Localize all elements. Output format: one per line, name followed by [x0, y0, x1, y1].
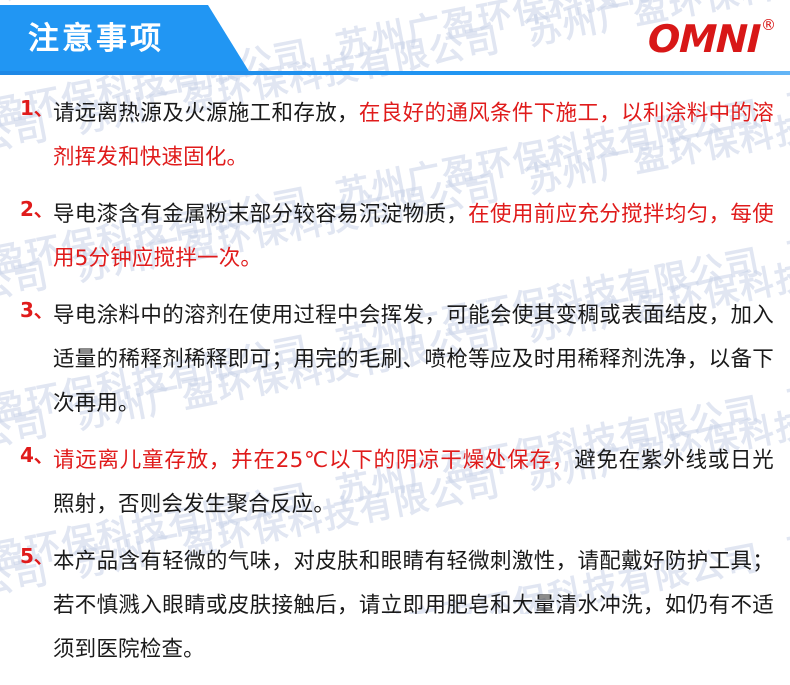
notice-number: 2、	[20, 193, 53, 225]
notice-item: 3、导电涂料中的溶剂在使用过程中会挥发，可能会使其变稠或表面结皮，加入适量的稀释…	[0, 294, 790, 426]
header-banner: 注意事项	[0, 5, 250, 73]
notice-text-normal: 导电漆含有金属粉末部分较容易沉淀物质，	[53, 202, 468, 227]
notice-item: 4、请远离儿童存放，并在25℃以下的阴凉干燥处保存，避免在紫外线或日光照射，否则…	[0, 439, 790, 527]
notice-list: 1、请远离热源及火源施工和存放，在良好的通风条件下施工，以利涂料中的溶剂挥发和快…	[0, 92, 790, 685]
notice-number-separator: 、	[34, 546, 53, 568]
notice-item: 2、导电漆含有金属粉末部分较容易沉淀物质，在使用前应充分搅拌均匀，每使用5分钟应…	[0, 193, 790, 281]
notice-text: 导电漆含有金属粉末部分较容易沉淀物质，在使用前应充分搅拌均匀，每使用5分钟应搅拌…	[53, 193, 774, 281]
notice-text-normal: 本产品含有轻微的气味，对皮肤和眼睛有轻微刺激性，请配戴好防护工具；若不慎溅入眼睛…	[53, 549, 774, 662]
notice-text-normal: 请远离热源及火源施工和存放，	[53, 101, 359, 126]
notice-text: 导电涂料中的溶剂在使用过程中会挥发，可能会使其变稠或表面结皮，加入适量的稀释剂稀…	[53, 294, 774, 426]
notice-item: 5、本产品含有轻微的气味，对皮肤和眼睛有轻微刺激性，请配戴好防护工具；若不慎溅入…	[0, 540, 790, 672]
notice-number-separator: 、	[34, 300, 53, 322]
notice-text-emphasis: 请远离儿童存放，并在25℃以下的阴凉干燥处保存，	[53, 448, 574, 473]
brand-logo: OMNI ®	[648, 20, 776, 58]
brand-name: OMNI	[647, 20, 760, 58]
page-title: 注意事项	[28, 24, 164, 55]
page-header: 注意事项 OMNI ®	[0, 0, 790, 80]
notice-number: 3、	[20, 294, 53, 326]
notice-number-separator: 、	[34, 98, 53, 120]
notice-text: 本产品含有轻微的气味，对皮肤和眼睛有轻微刺激性，请配戴好防护工具；若不慎溅入眼睛…	[53, 540, 774, 672]
registered-trademark-icon: ®	[761, 18, 776, 33]
notice-number-separator: 、	[34, 199, 53, 221]
notice-number-separator: 、	[34, 445, 53, 467]
notice-text: 请远离儿童存放，并在25℃以下的阴凉干燥处保存，避免在紫外线或日光照射，否则会发…	[53, 439, 774, 527]
notice-number: 5、	[20, 540, 53, 572]
notice-text: 请远离热源及火源施工和存放，在良好的通风条件下施工，以利涂料中的溶剂挥发和快速固…	[53, 92, 774, 180]
notice-text-normal: 导电涂料中的溶剂在使用过程中会挥发，可能会使其变稠或表面结皮，加入适量的稀释剂稀…	[53, 303, 774, 416]
notice-number: 1、	[20, 92, 53, 124]
notice-number: 4、	[20, 439, 53, 471]
notice-item: 1、请远离热源及火源施工和存放，在良好的通风条件下施工，以利涂料中的溶剂挥发和快…	[0, 92, 790, 180]
header-divider	[0, 71, 790, 75]
